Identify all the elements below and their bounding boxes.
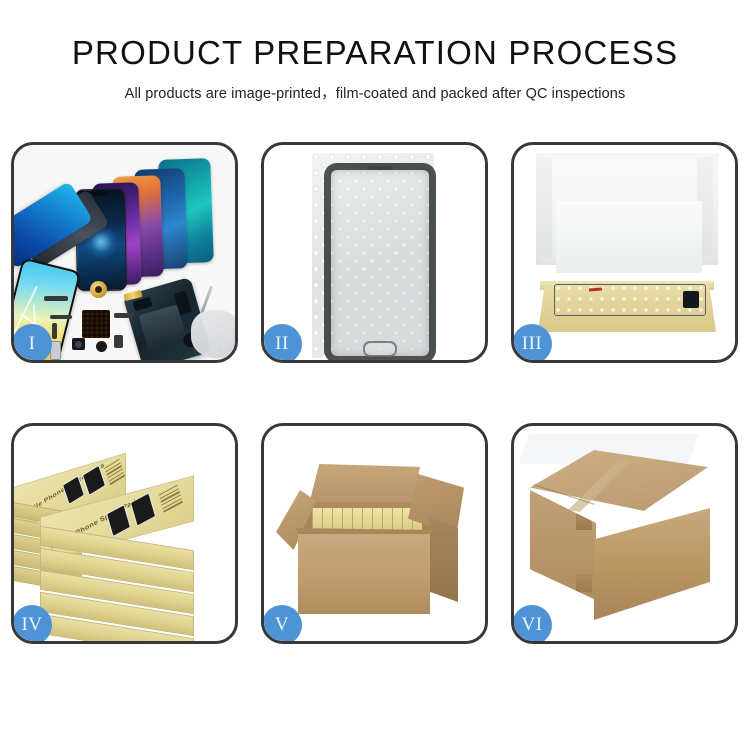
box-interior-icon: [556, 201, 702, 273]
process-step-grid: I II: [11, 142, 739, 644]
phone-parts-collage-image: I: [14, 145, 235, 360]
box-stack: Mobile Phone Spare Parts Mobile: [14, 440, 235, 638]
step-numeral: II: [275, 333, 289, 355]
flex-cable-icon: [52, 323, 57, 339]
vibration-motor-icon: [96, 341, 107, 352]
process-step-panel-2: II: [261, 142, 488, 363]
process-step-panel-3: III: [511, 142, 738, 363]
carton-tab-icon: [576, 512, 592, 530]
box-spec-lines-icon: [158, 484, 183, 514]
open-carton-icon: [290, 468, 460, 618]
red-marker-icon: [589, 288, 602, 292]
step-badge-6: VI: [514, 605, 552, 641]
single-box-packing-image: III: [514, 145, 735, 360]
step-numeral: III: [522, 333, 542, 355]
phone-notch-icon: [92, 192, 108, 196]
step-badge-2: II: [264, 324, 302, 360]
box-thumbnail-icon: [130, 492, 156, 527]
home-button-icon: [363, 341, 397, 357]
step-badge-1: I: [14, 324, 52, 360]
carton-sealed-image: VI: [514, 426, 735, 641]
step-numeral: VI: [521, 614, 542, 636]
step-numeral: V: [275, 614, 289, 636]
connector-array-icon: [82, 310, 110, 338]
camera-icon: [72, 338, 85, 350]
step-badge-3: III: [514, 324, 552, 360]
carton-tab-icon: [576, 574, 592, 592]
hand-icon: [191, 310, 235, 358]
step-badge-5: V: [264, 605, 302, 641]
bubble-wrap-icon: [312, 153, 434, 358]
flex-cable-icon: [44, 296, 68, 301]
box-spec-lines-icon: [104, 459, 126, 488]
process-step-panel-5: V: [261, 423, 488, 644]
carton-right-face-icon: [594, 508, 710, 620]
flex-cable-icon: [50, 315, 72, 319]
carton-side-icon: [430, 518, 458, 602]
process-step-panel-1: I: [11, 142, 238, 363]
component-icon: [114, 335, 123, 348]
carton-front-icon: [298, 534, 430, 614]
chip-icon: [133, 297, 153, 312]
phone-screen-icon: [324, 163, 436, 360]
process-step-panel-4: Mobile Phone Spare Parts Mobile: [11, 423, 238, 644]
page-title: PRODUCT PREPARATION PROCESS: [0, 36, 750, 69]
process-step-panel-6: VI: [511, 423, 738, 644]
connector-icon: [683, 291, 699, 308]
carton-left-face-icon: [530, 490, 596, 600]
speaker-icon: [90, 281, 107, 298]
step-numeral: IV: [21, 614, 42, 636]
stacked-kraft-boxes-image: Mobile Phone Spare Parts Mobile: [14, 426, 235, 641]
carton-filled-image: V: [264, 426, 485, 641]
bubble-wrapped-screen-image: II: [264, 145, 485, 360]
product-preparation-infographic: PRODUCT PREPARATION PROCESS All products…: [0, 0, 750, 750]
step-badge-4: IV: [14, 605, 52, 641]
step-numeral: I: [29, 333, 36, 355]
wrapped-screen-icon: [554, 284, 706, 316]
header: PRODUCT PREPARATION PROCESS All products…: [0, 0, 750, 103]
sealed-carton-icon: [530, 450, 720, 620]
page-subtitle: All products are image-printed，film-coat…: [0, 82, 750, 103]
earpiece-icon: [367, 166, 393, 170]
flex-cable-icon: [114, 313, 134, 318]
box-lid-flap-left-icon: [536, 156, 552, 259]
